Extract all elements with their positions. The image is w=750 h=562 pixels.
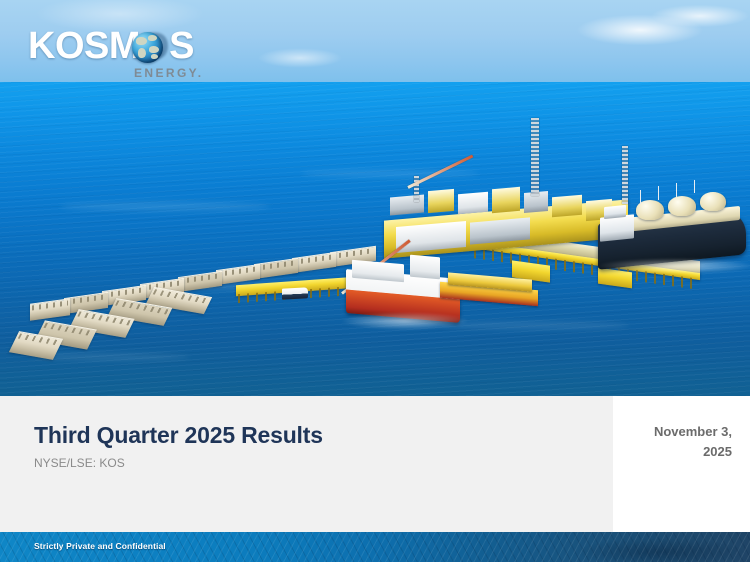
date-line-2: 2025 [703,444,732,459]
date-panel: November 3, 2025 [613,396,750,532]
date-line-1: November 3, [654,424,732,439]
ticker-subtitle: NYSE/LSE: KOS [34,456,125,470]
kosmos-energy-logo: KOSMOS ENERGY. [28,26,208,78]
page-title: Third Quarter 2025 Results [34,422,323,449]
logo-text-part1: KOSM [28,25,140,67]
hero-photo: KOSMOS ENERGY. [0,0,750,396]
presentation-slide: KOSMOS ENERGY. Third Quarter 2025 Result… [0,0,750,562]
footer-band: Strictly Private and Confidential [0,532,750,562]
logo-text-part2: S [169,25,194,67]
presentation-date: November 3, 2025 [628,422,732,462]
flare-tower [531,118,539,196]
tugboat [282,287,308,299]
title-panel: Third Quarter 2025 Results NYSE/LSE: KOS [0,396,613,532]
globe-icon [132,32,163,63]
confidentiality-notice: Strictly Private and Confidential [34,541,166,551]
logo-wordmark: KOSMOS [28,26,194,66]
logo-tagline: ENERGY. [134,66,203,80]
